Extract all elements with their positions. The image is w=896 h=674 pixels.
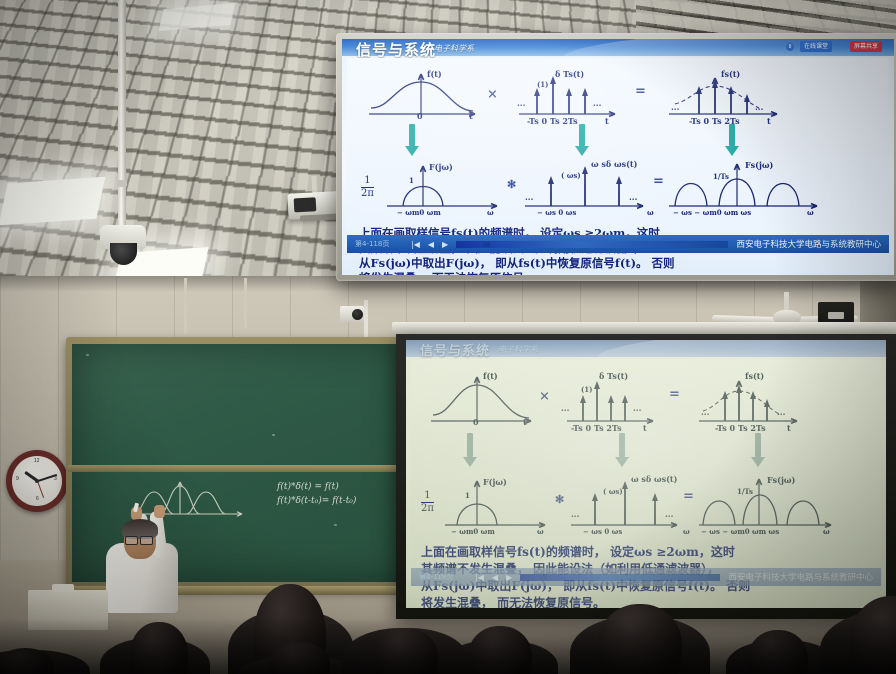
label-origin: 0: [473, 417, 479, 427]
ellipsis-right: ...: [593, 98, 601, 108]
ellipsis-left: ...: [671, 102, 679, 112]
coefficient-numerator: 1: [421, 491, 434, 501]
ticks-time-2: -Ts 0 Ts 2Ts: [689, 116, 740, 126]
label-axis-w: ω: [683, 527, 690, 536]
label-delta-Ts: δ Ts(t): [599, 371, 628, 381]
coefficient-denominator: 2π: [361, 188, 374, 199]
label-axis-t: t: [643, 423, 647, 433]
next-slide-button[interactable]: ▶: [442, 240, 448, 249]
audience-shadow: [0, 618, 896, 674]
label-axis-t: t: [605, 116, 609, 126]
label-f-t: f(t): [427, 69, 442, 79]
label-amplitude-ws: ( ωs): [603, 487, 623, 496]
ticks-freq-2: − ωs 0 ωs: [583, 527, 622, 536]
label-amplitude-one: (1): [581, 385, 593, 394]
coefficient-one-over-2pi: 1 2π: [421, 491, 434, 514]
slide-paragraph-line: 将发生混叠， 而无法恢复原信号。: [359, 271, 536, 275]
coefficient-one-over-2pi: 1 2π: [361, 176, 374, 199]
operator-equals: =: [683, 489, 694, 504]
label-axis-w: ω: [487, 208, 494, 217]
label-ws-delta: ω sδ ωs(t): [591, 159, 637, 169]
label-peak-one: 1: [465, 491, 470, 500]
label-ws-delta: ω sδ ωs(t): [631, 474, 677, 484]
ticks-time-1: -Ts 0 Ts 2Ts: [571, 423, 622, 433]
label-axis-t: t: [767, 116, 771, 126]
label-peak-one: 1: [409, 176, 414, 185]
lcd-display-screen: 信号与系统 电子科学系 8 在线课堂 屏幕共享: [342, 39, 894, 275]
label-amplitude-ws: ( ωs): [561, 171, 581, 180]
label-Fs-jw: Fs(jω): [767, 475, 795, 485]
notification-badge[interactable]: 8: [786, 43, 794, 51]
slide-title: 信号与系统: [356, 39, 436, 60]
wall-conduit: [184, 278, 187, 334]
slide-body: f(t) 0 t × δ Ts(t) (1) ... ... -Ts 0 Ts …: [347, 58, 889, 253]
ticks-time-2: -Ts 0 Ts 2Ts: [715, 423, 766, 433]
operator-multiply: ×: [487, 87, 498, 102]
ellipsis-right: ...: [633, 403, 641, 413]
ticks-freq-3: − ωs − ωm0 ωm ωs: [701, 527, 779, 536]
ellipsis-left: ...: [571, 509, 579, 519]
label-axis-t: t: [787, 423, 791, 433]
glasses-icon: [125, 536, 153, 543]
clock-numeral: 3: [54, 476, 57, 482]
operator-equals: =: [669, 387, 680, 402]
ellipsis-right: ...: [777, 407, 785, 417]
operator-convolve: ✻: [555, 493, 564, 506]
ellipsis-right: ...: [665, 509, 673, 519]
label-axis-w: ω: [807, 208, 814, 217]
ellipsis-right: ...: [755, 102, 763, 112]
coefficient-numerator: 1: [361, 176, 374, 186]
coefficient-denominator: 2π: [421, 503, 434, 514]
operator-convolve: ✻: [507, 178, 516, 191]
ellipsis-left: ...: [701, 407, 709, 417]
svg-text:f(t)*δ(t) = f(t): f(t)*δ(t) = f(t): [276, 481, 339, 492]
operator-multiply: ×: [539, 389, 550, 404]
ellipsis-left: ...: [561, 403, 569, 413]
label-axis-w: ω: [537, 527, 544, 536]
ticks-freq-3: − ωs − ωm0 ωm ωs: [673, 208, 751, 217]
label-amplitude-one: (1): [537, 80, 549, 89]
audience-foreground: [0, 564, 896, 674]
projected-slide-title: 信号与系统: [420, 340, 490, 359]
ticks-freq-1: − ωm0 ωm: [451, 527, 495, 536]
clock-numeral: 9: [16, 476, 19, 482]
label-peak-one-over-Ts: 1/Ts: [713, 172, 729, 181]
live-class-badge[interactable]: 在线课堂: [800, 41, 832, 52]
label-axis-t: t: [523, 417, 527, 427]
projected-paragraph-line: 上面在画取样信号fs(t)的频谱时， 设定ωs ≥2ωm，这时: [421, 545, 735, 560]
projected-slide-subtitle: 电子科学系: [498, 344, 538, 355]
clock-numeral: 6: [36, 496, 39, 502]
label-origin: 0: [417, 111, 423, 121]
wall-conduit: [244, 278, 247, 328]
label-axis-w: ω: [823, 527, 830, 536]
projected-slide-body: f(t) 0 t × δ Ts(t) (1) ... ... -Ts 0 Ts …: [411, 359, 881, 586]
camera-mount-pole: [118, 0, 126, 228]
slide-subtitle: 电子科学系: [434, 43, 474, 54]
slide-paragraph-line: 从Fs(jω)中取出F(jω)， 即从fs(t)中恢复原信号f(t)。 否则: [359, 256, 675, 271]
lecturer-right-hand: [154, 505, 165, 518]
blackboard-divider: [68, 465, 409, 472]
slide-navigation-bar[interactable]: 第4-118页 |◀ ◀ ▶ 西安电子科技大学电路与系统教研中心: [347, 235, 889, 253]
sampling-theorem-diagram: [347, 58, 889, 253]
label-Fs-jw: Fs(jω): [745, 160, 773, 170]
ellipsis-left: ...: [517, 98, 525, 108]
chalk-handwritten-equations: f(t)*δ(t) = f(t) f(t)*δ(t-t₀)= f(t-t₀): [275, 477, 395, 509]
svg-text:f(t)*δ(t-t₀)= f(t-t₀): f(t)*δ(t-t₀)= f(t-t₀): [276, 495, 357, 506]
slide-page-indicator: 第4-118页: [355, 239, 403, 249]
ticks-time-1: -Ts 0 Ts 2Ts: [527, 116, 578, 126]
ellipsis-right: ...: [629, 192, 637, 202]
clock-center-pin: [35, 479, 39, 483]
ellipsis-left: ...: [525, 192, 533, 202]
label-f-t: f(t): [483, 371, 498, 381]
label-delta-Ts: δ Ts(t): [555, 69, 584, 79]
label-F-jw: F(jω): [429, 162, 453, 172]
first-slide-button[interactable]: |◀: [411, 240, 420, 249]
operator-equals: =: [635, 84, 646, 99]
wall-camera-icon: [340, 306, 364, 322]
ticks-freq-1: − ωm0 ωm: [397, 208, 441, 217]
prev-slide-button[interactable]: ◀: [428, 240, 434, 249]
label-fs-t: fs(t): [721, 69, 740, 79]
ceiling-panel-light: [0, 177, 105, 226]
slide-progress-bar[interactable]: [456, 241, 728, 248]
label-axis-t: t: [469, 111, 473, 121]
clock-numeral: 12: [34, 458, 40, 464]
label-fs-t: fs(t): [745, 371, 764, 381]
wall-clock: 12 3 6 9: [6, 450, 68, 512]
ticks-freq-2: − ωs 0 ωs: [537, 208, 576, 217]
operator-equals: =: [653, 174, 664, 189]
lecture-hall-photo: 12 3 6 9 f(t)*δ(t) = f(t) f(t)*δ(t-t: [0, 0, 896, 674]
organization-footer: 西安电子科技大学电路与系统教研中心: [736, 238, 881, 250]
label-F-jw: F(jω): [483, 477, 507, 487]
screen-share-badge[interactable]: 屏幕共享: [850, 41, 882, 52]
label-peak-one-over-Ts: 1/Ts: [737, 487, 753, 496]
label-axis-w: ω: [647, 208, 654, 217]
